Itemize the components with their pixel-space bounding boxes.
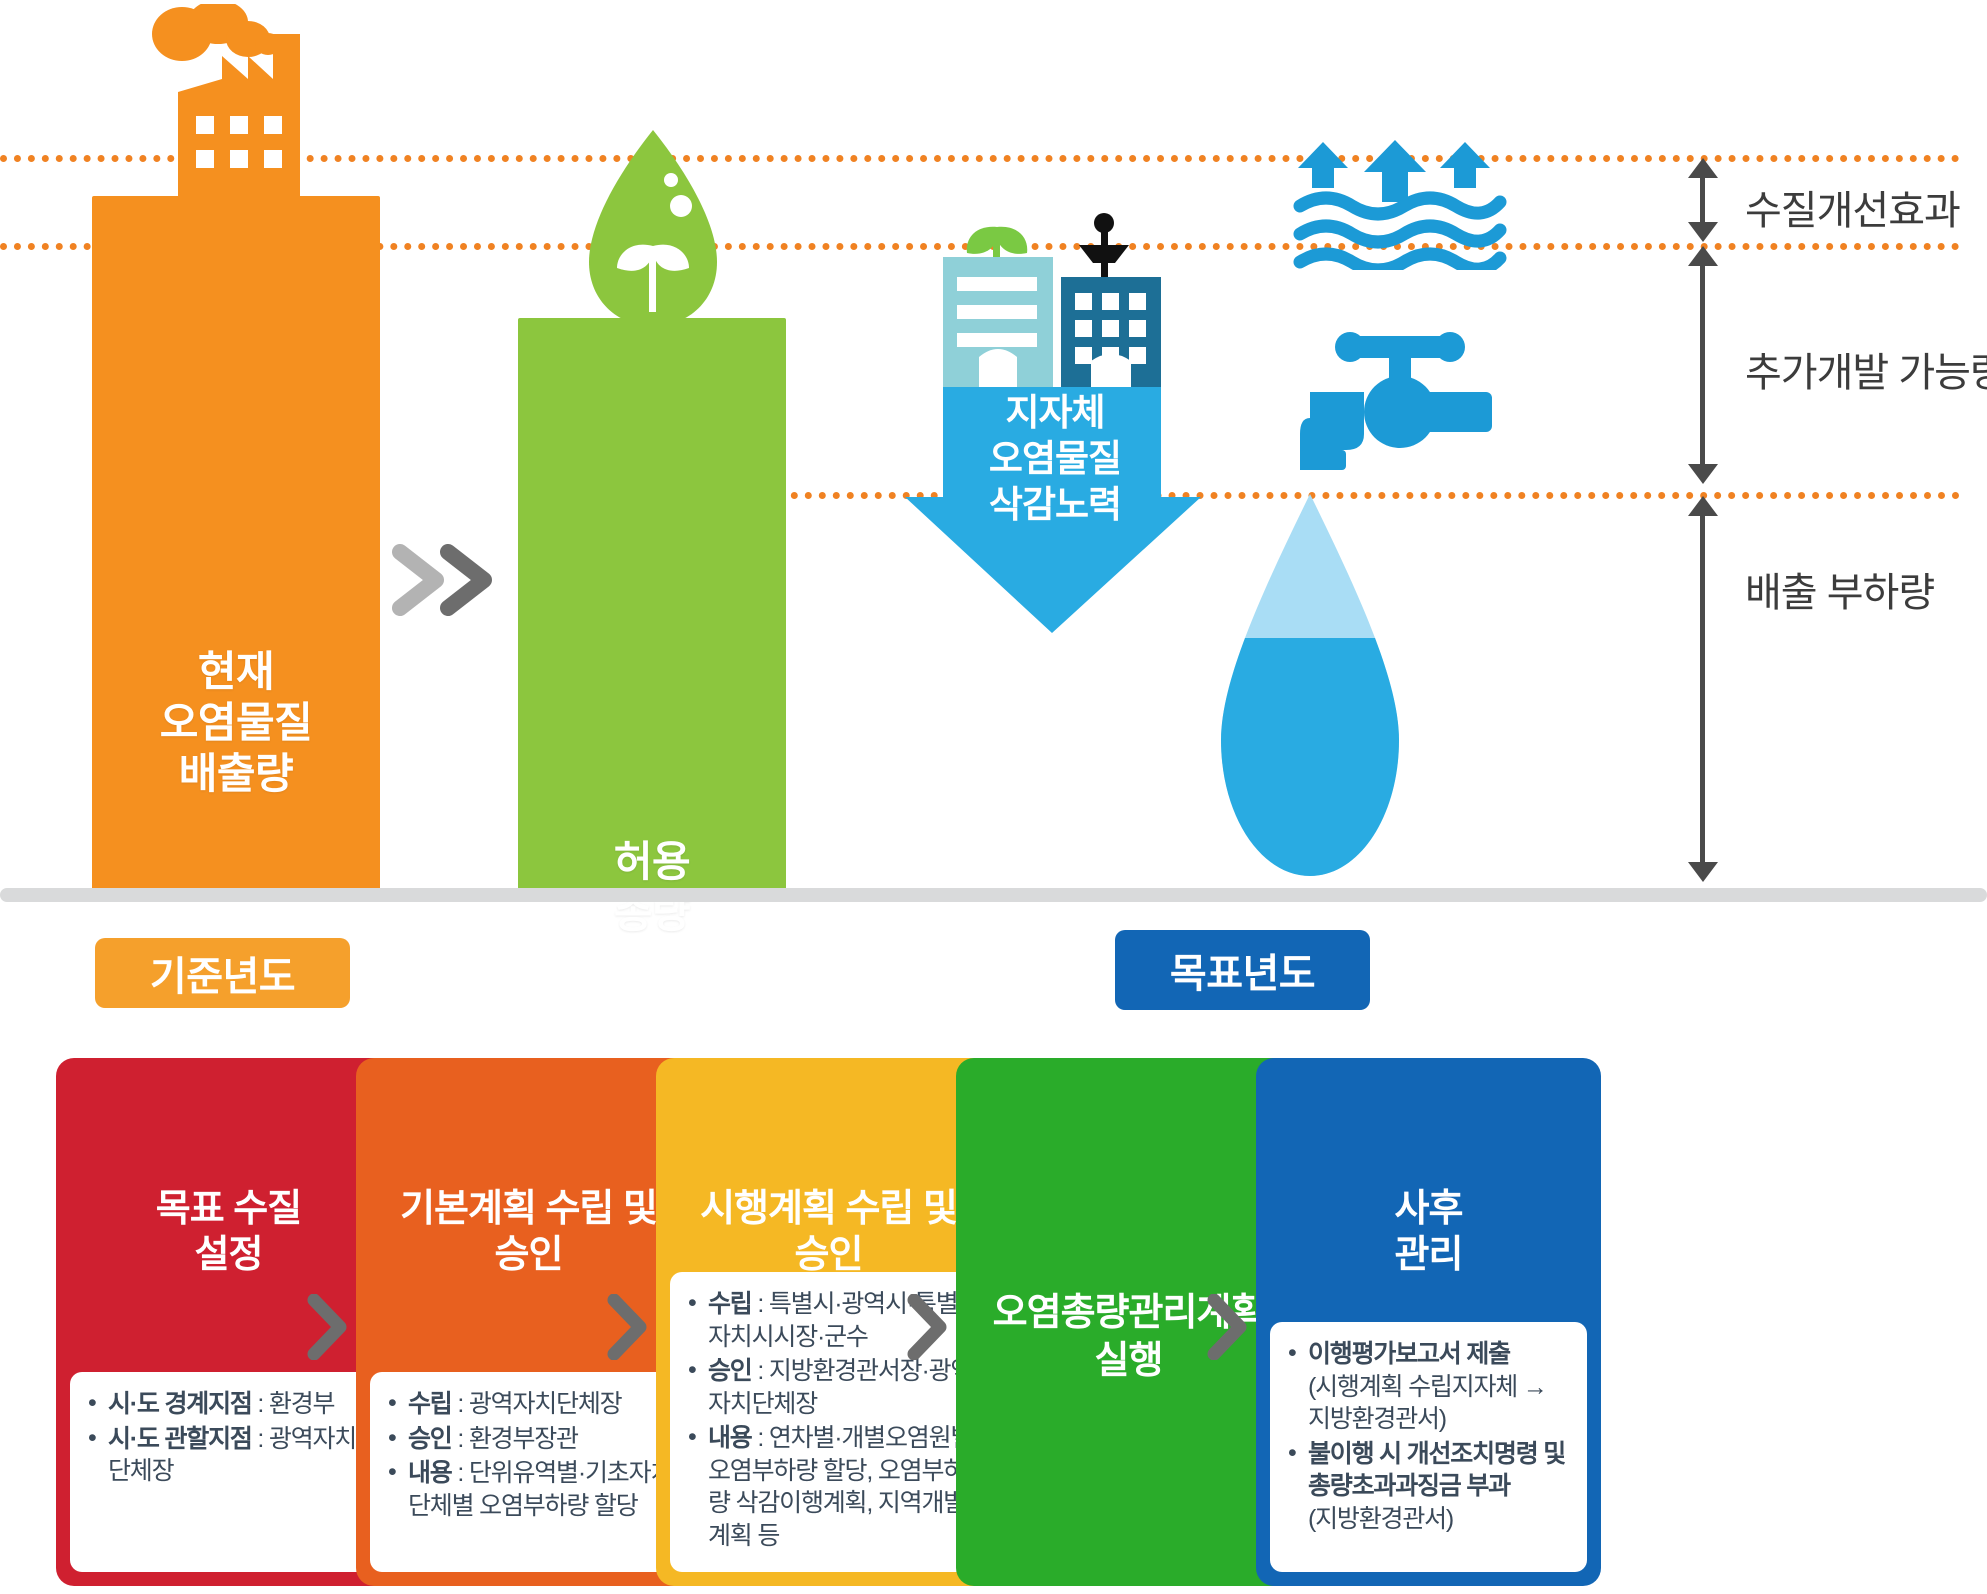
axis-label-water-quality-improvement: 수질개선효과 <box>1745 178 1960 236</box>
water-drop-icon <box>1215 490 1405 880</box>
list-item: 시·도 경계지점 : 환경부 <box>86 1388 373 1421</box>
list-item: 내용 : 연차별·개별오염원별 오염부하량 할당, 오염부하량 삭감이행계획, … <box>686 1422 973 1552</box>
axis-line-2 <box>1700 258 1705 470</box>
water-improvement-icon <box>1290 140 1510 270</box>
step-card-title: 시행계획 수립 및승인 <box>656 1186 1001 1279</box>
bar-current-emission: 현재오염물질배출량 <box>92 196 380 890</box>
diagram-canvas: 현재오염물질배출량 허용총량 <box>0 0 1987 1594</box>
axis-arrow-down-1 <box>1688 222 1718 242</box>
list-item: 승인 : 지방환경관서장·광역자치단체장 <box>686 1355 973 1420</box>
step-card-title: 사후관리 <box>1256 1186 1601 1279</box>
chevron-right-icon <box>1206 1294 1250 1360</box>
process-flow: 목표 수질설정 시·도 경계지점 : 환경부 시·도 관할지점 : 광역자치단체… <box>0 1058 1987 1594</box>
factory-icon <box>140 4 340 204</box>
list-item: 승인 : 환경부장관 <box>386 1423 673 1456</box>
step-card-body: 시·도 경계지점 : 환경부 시·도 관할지점 : 광역자치단체장 <box>70 1372 387 1572</box>
chevron-right-icon <box>606 1294 650 1360</box>
list-item: 수립 : 광역자치단체장 <box>386 1388 673 1421</box>
axis-line-1 <box>1700 170 1705 230</box>
bar-allowed-total: 허용총량 <box>518 318 786 890</box>
list-item: 내용 : 단위유역별·기초자치단체별 오염부하량 할당 <box>386 1457 673 1522</box>
axis-label-additional-development: 추가개발 가능량 <box>1745 340 1987 398</box>
double-chevron-icon <box>390 540 510 620</box>
step-card-title: 목표 수질설정 <box>56 1186 401 1279</box>
list-item: 이행평가보고서 제출(시행계획 수립지자체 →지방환경관서) <box>1286 1338 1573 1436</box>
chevron-right-icon <box>306 1294 350 1360</box>
faucet-icon <box>1290 330 1510 470</box>
axis-arrow-down-3 <box>1688 862 1718 882</box>
bar-current-emission-label: 현재오염물질배출량 <box>92 646 380 800</box>
city-arrow-label: 지자체오염물질삭감노력 <box>905 390 1205 528</box>
axis-arrow-down-2 <box>1688 464 1718 484</box>
chevron-right-icon <box>906 1294 950 1360</box>
step-card-title: 기본계획 수립 및승인 <box>356 1186 701 1279</box>
concept-diagram: 현재오염물질배출량 허용총량 <box>0 0 1987 915</box>
badge-target-year: 목표년도 <box>1115 930 1370 1010</box>
step-card-post-management[interactable]: 사후관리 이행평가보고서 제출(시행계획 수립지자체 →지방환경관서) 불이행 … <box>1256 1058 1601 1586</box>
step-card-body: 수립 : 광역자치단체장 승인 : 환경부장관 내용 : 단위유역별·기초자치단… <box>370 1372 687 1572</box>
list-item: 불이행 시 개선조치명령 및 총량초과과징금 부과(지방환경관서) <box>1286 1438 1573 1536</box>
leaf-sprout-icon <box>583 128 723 328</box>
axis-line-3 <box>1700 508 1705 868</box>
ground-baseline <box>0 888 1987 902</box>
axis-label-emission-load: 배출 부하량 <box>1745 560 1934 618</box>
badge-base-year: 기준년도 <box>95 938 350 1008</box>
list-item: 시·도 관할지점 : 광역자치단체장 <box>86 1423 373 1488</box>
step-card-body: 이행평가보고서 제출(시행계획 수립지자체 →지방환경관서) 불이행 시 개선조… <box>1270 1322 1587 1572</box>
